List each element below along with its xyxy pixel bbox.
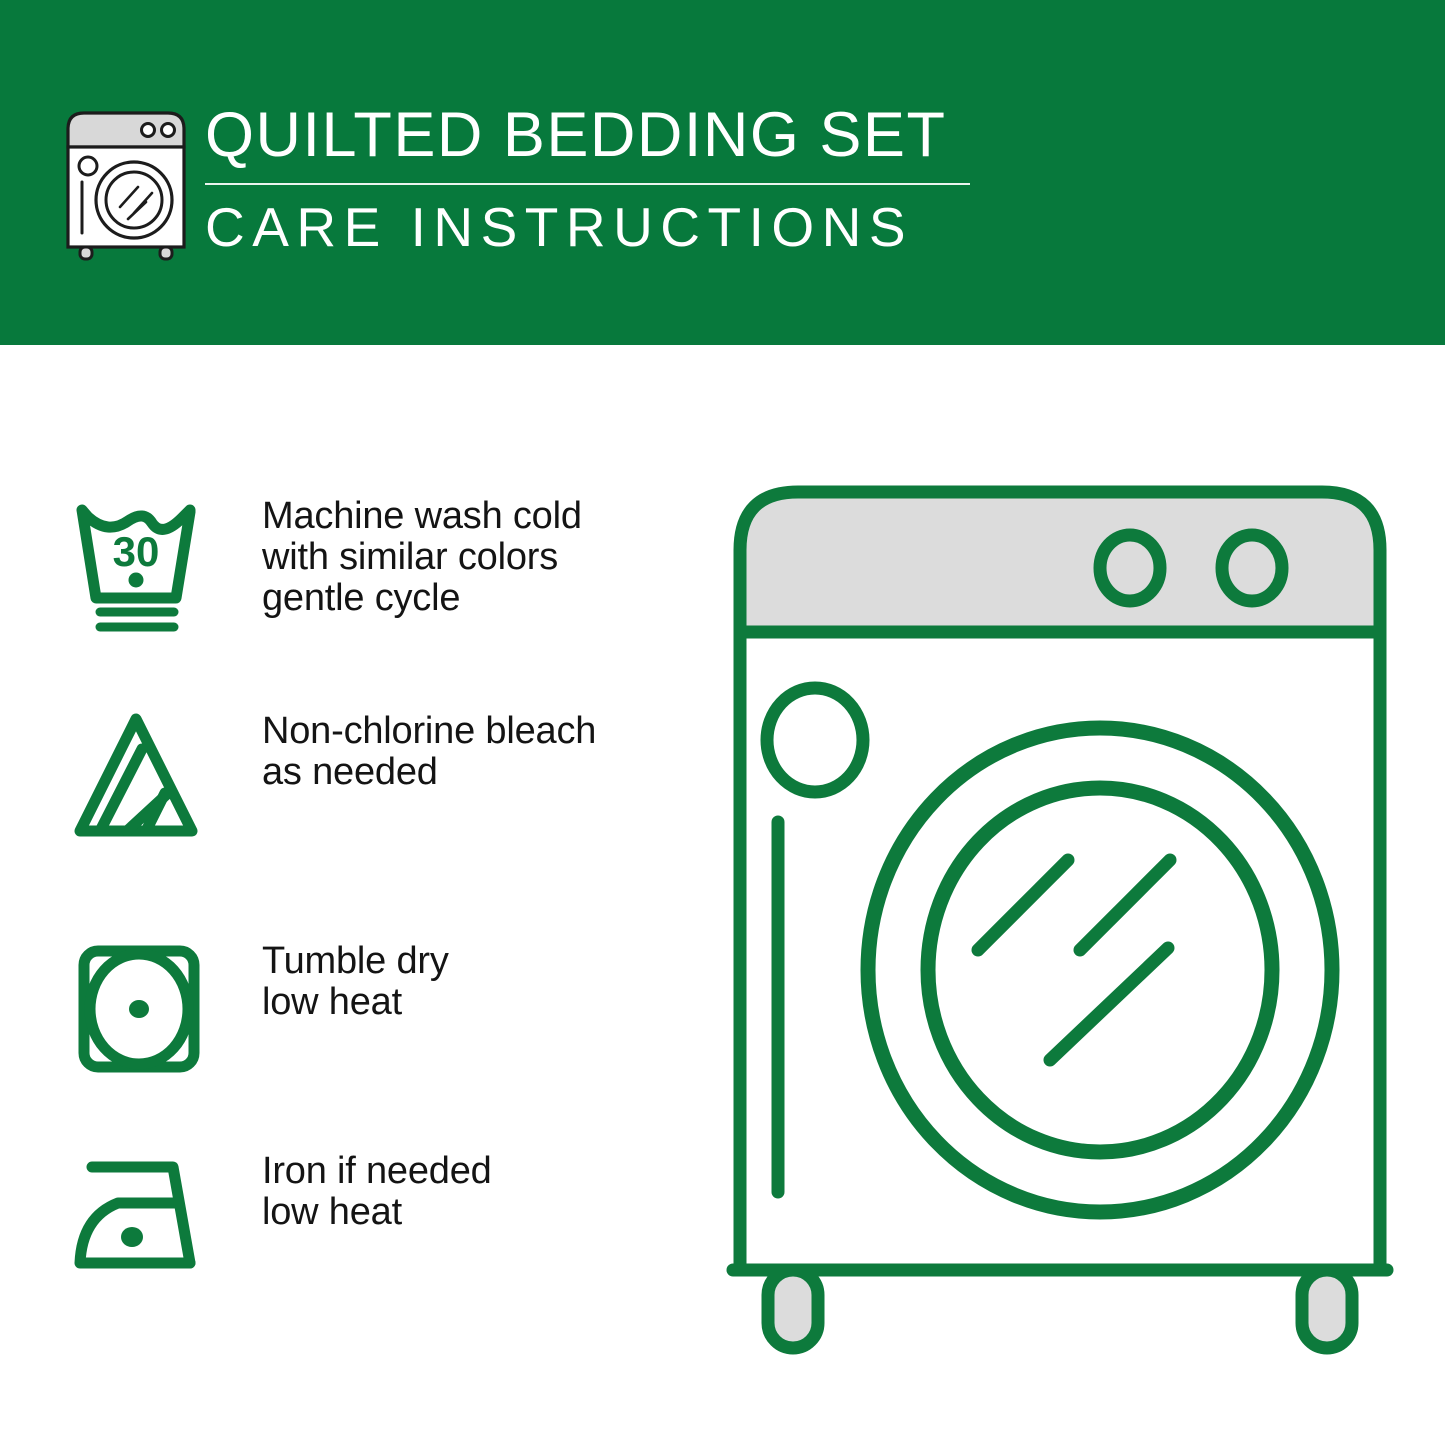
care-instructions-infographic: QUILTED BEDDING SET CARE INSTRUCTIONS [0, 0, 1445, 1445]
care-label-line: with similar colors [262, 537, 582, 578]
non-chlorine-bleach-triangle-icon [70, 705, 240, 855]
wash-tub-30-gentle-icon: 30 [70, 490, 240, 640]
care-label-line: low heat [262, 1192, 492, 1233]
care-label-machine-wash: Machine wash cold with similar colors ge… [240, 490, 582, 619]
care-row-tumble-dry: Tumble dry low heat [70, 935, 690, 1085]
care-row-iron: Iron if needed low heat [70, 1145, 690, 1295]
drum-door-inner [928, 788, 1272, 1152]
iron-low-heat-icon [70, 1145, 240, 1295]
washing-machine-icon [62, 103, 190, 261]
care-label-line: as needed [262, 752, 596, 793]
front-load-washing-machine-illustration [700, 450, 1420, 1380]
title-divider [205, 183, 970, 185]
header-banner: QUILTED BEDDING SET CARE INSTRUCTIONS [0, 0, 1445, 345]
header-text-block: QUILTED BEDDING SET CARE INSTRUCTIONS [205, 100, 995, 270]
care-label-line: Non-chlorine bleach [262, 711, 596, 752]
care-row-bleach: Non-chlorine bleach as needed [70, 705, 690, 855]
care-label-tumble-dry: Tumble dry low heat [240, 935, 449, 1023]
care-label-bleach: Non-chlorine bleach as needed [240, 705, 596, 793]
tumble-dry-low-heat-icon [70, 935, 240, 1085]
knob-left [1100, 535, 1160, 601]
care-row-machine-wash: 30 Machine wash cold with similar colors… [70, 490, 690, 640]
leg-left [768, 1270, 818, 1348]
leg-right [1302, 1270, 1352, 1348]
knob-right [1222, 535, 1282, 601]
care-instructions-list: 30 Machine wash cold with similar colors… [0, 345, 700, 1445]
care-label-iron: Iron if needed low heat [240, 1145, 492, 1233]
page-subtitle: CARE INSTRUCTIONS [205, 196, 995, 258]
care-label-line: gentle cycle [262, 578, 582, 619]
page-title: QUILTED BEDDING SET [205, 100, 995, 170]
care-label-line: Machine wash cold [262, 496, 582, 537]
care-label-line: Tumble dry [262, 941, 449, 982]
care-label-line: low heat [262, 982, 449, 1023]
detergent-circle [767, 688, 863, 792]
care-label-line: Iron if needed [262, 1151, 492, 1192]
wash-temperature-value: 30 [113, 528, 160, 575]
